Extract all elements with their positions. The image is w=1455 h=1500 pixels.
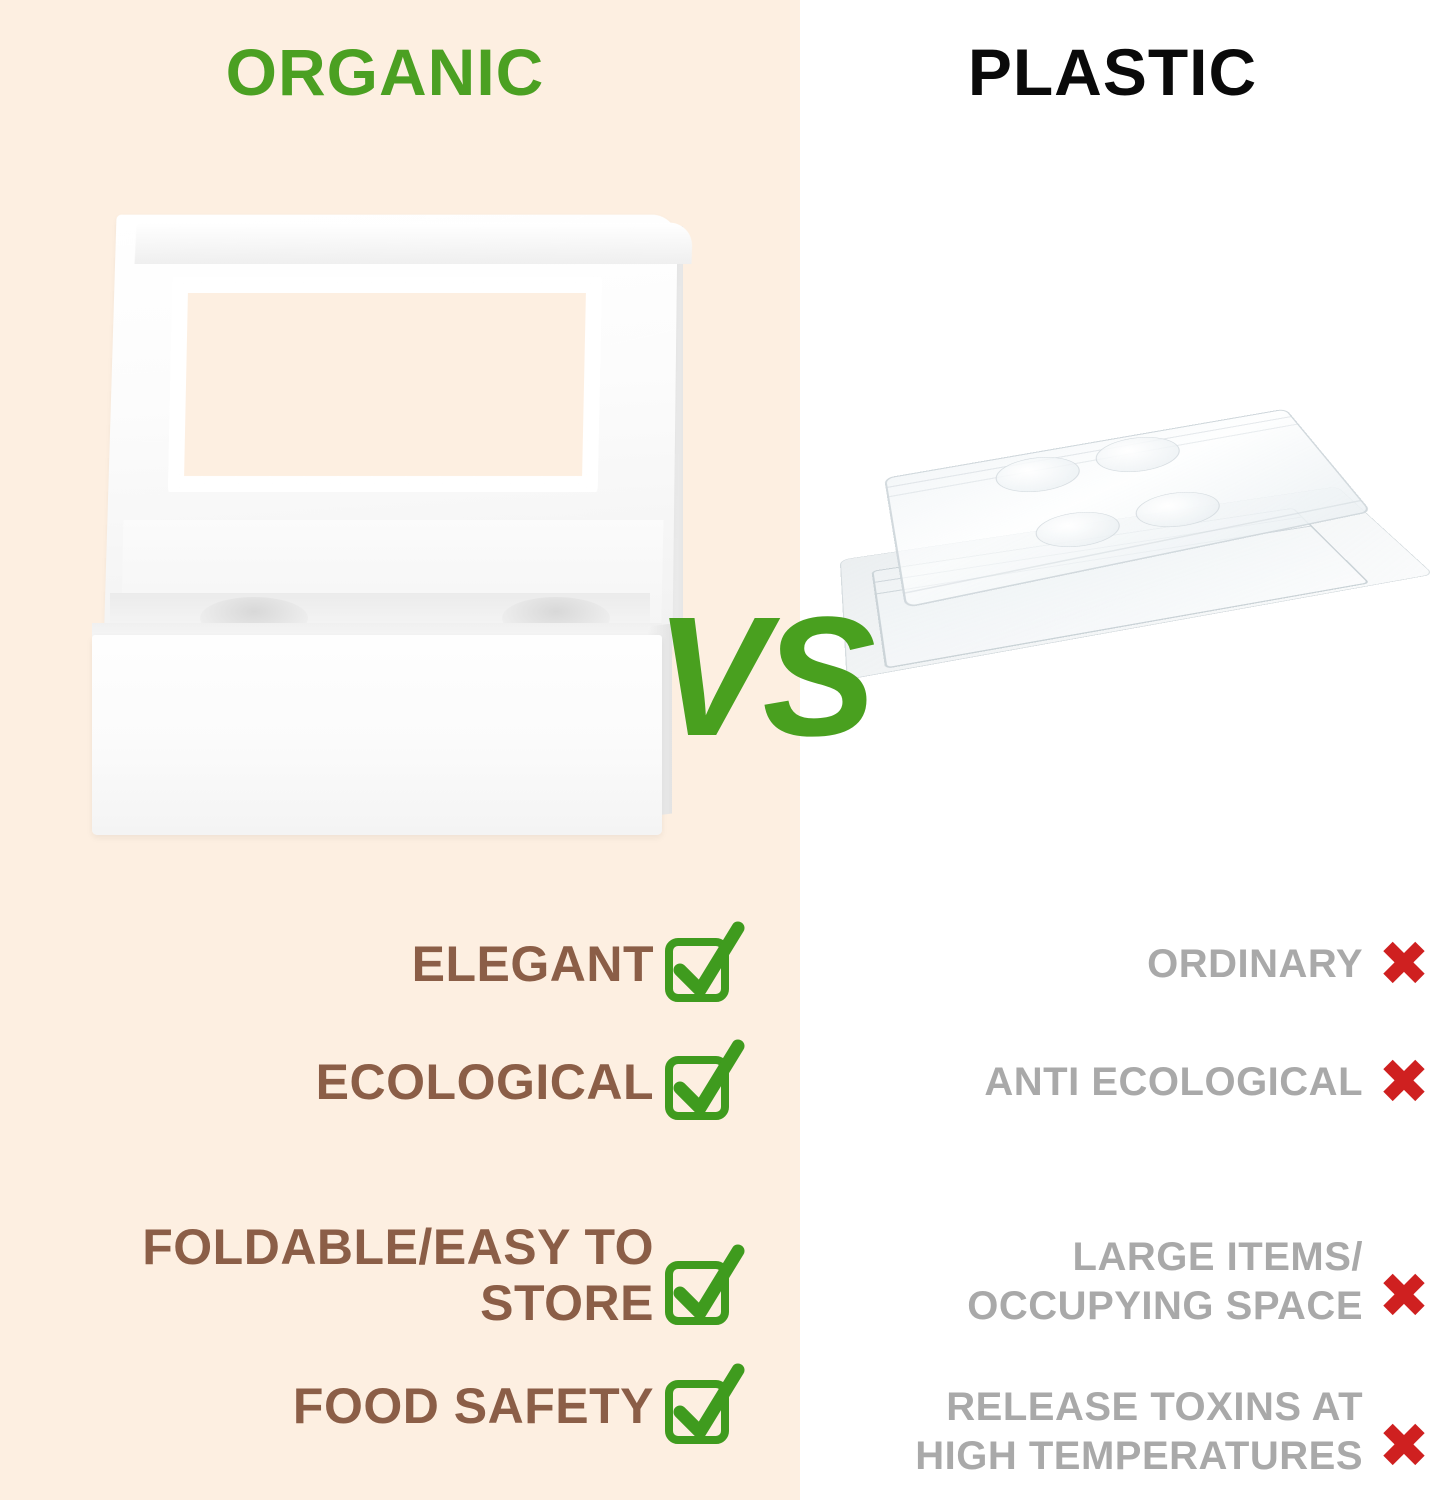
check-icon: [654, 1038, 750, 1126]
clamshell-rib: [888, 416, 1292, 488]
x-icon: ✖: [1363, 1265, 1445, 1331]
organic-column-title: ORGANIC: [0, 34, 770, 110]
list-item: ELEGANT: [60, 905, 750, 1023]
check-icon: [654, 920, 750, 1008]
drawback-label: RELEASE TOXINS AT HIGH TEMPERATURES: [845, 1383, 1363, 1481]
list-item: FOOD SAFETY: [60, 1331, 750, 1481]
box-front-panel: [92, 635, 662, 835]
x-icon-glyph: ✖: [1378, 1051, 1430, 1113]
x-icon-glyph: ✖: [1378, 933, 1430, 995]
check-icon-glyph: [658, 1362, 746, 1450]
list-item: ECOLOGICAL: [60, 1023, 750, 1141]
check-icon-glyph: [658, 920, 746, 1008]
plastic-clamshell-image: [845, 375, 1425, 725]
cardboard-cupcake-box-image: [92, 205, 692, 855]
x-icon-glyph: ✖: [1378, 1265, 1430, 1327]
x-icon: ✖: [1363, 1415, 1445, 1481]
feature-label: FOLDABLE/EASY TO STORE: [60, 1219, 654, 1331]
list-item: LARGE ITEMS/ OCCUPYING SPACE ✖: [845, 1141, 1445, 1331]
feature-label: ECOLOGICAL: [60, 1054, 654, 1110]
window-scallop-bottom: [168, 476, 598, 493]
plastic-drawback-list: ORDINARY ✖ ANTI ECOLOGICAL ✖ LARGE ITEMS…: [845, 905, 1445, 1481]
comparison-infographic: ORGANIC PLASTIC: [0, 0, 1455, 1500]
x-icon: ✖: [1363, 1051, 1445, 1113]
vs-badge: VS: [655, 592, 870, 762]
feature-label: FOOD SAFETY: [60, 1378, 654, 1434]
drawback-label: LARGE ITEMS/ OCCUPYING SPACE: [845, 1233, 1363, 1331]
check-icon-glyph: [658, 1038, 746, 1126]
x-icon-glyph: ✖: [1378, 1415, 1430, 1477]
x-icon: ✖: [1363, 933, 1445, 995]
organic-feature-list: ELEGANT ECOLOGICAL FOLDABLE/EASY TO STOR…: [60, 905, 750, 1481]
drawback-label: ORDINARY: [845, 940, 1363, 989]
clamshell-group: [845, 375, 1425, 725]
window-scallop-top: [172, 276, 602, 293]
check-icon-glyph: [658, 1243, 746, 1331]
box-lid-top-edge: [135, 223, 693, 264]
box-lid-scalloped-window: [168, 277, 603, 492]
drawback-label: ANTI ECOLOGICAL: [845, 1058, 1363, 1107]
list-item: ANTI ECOLOGICAL ✖: [845, 1023, 1445, 1141]
clamshell-rib: [889, 424, 1297, 498]
check-icon: [654, 1243, 750, 1331]
feature-label: ELEGANT: [60, 936, 654, 992]
list-item: ORDINARY ✖: [845, 905, 1445, 1023]
list-item: FOLDABLE/EASY TO STORE: [60, 1141, 750, 1331]
plastic-column-title: PLASTIC: [770, 34, 1455, 110]
list-item: RELEASE TOXINS AT HIGH TEMPERATURES ✖: [845, 1331, 1445, 1481]
check-icon: [654, 1362, 750, 1450]
